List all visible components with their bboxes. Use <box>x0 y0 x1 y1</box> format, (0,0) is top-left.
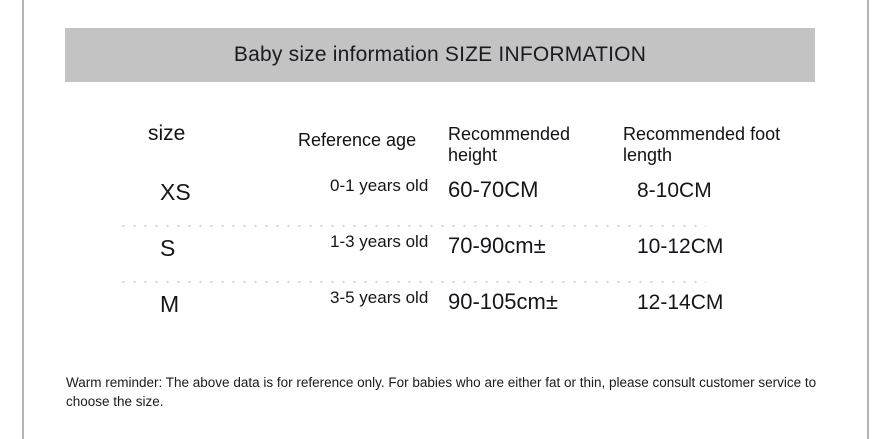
cell-age: 3-5 years old <box>298 282 448 308</box>
table-row: XS 0-1 years old 60-70CM 8-10CM <box>0 170 876 226</box>
cell-foot-length: 10-12CM <box>623 226 823 258</box>
table-row: M 3-5 years old 90-105cm± 12-14CM <box>0 282 876 338</box>
cell-age: 1-3 years old <box>298 226 448 252</box>
size-chart-table: size Reference age Recommended height Re… <box>0 110 876 338</box>
size-information-banner: Baby size information SIZE INFORMATION <box>65 28 815 82</box>
column-header-size: size <box>148 110 298 147</box>
table-header-row: size Reference age Recommended height Re… <box>0 110 876 170</box>
cell-height: 60-70CM <box>448 170 623 202</box>
column-header-recommended-height: Recommended height <box>448 110 623 166</box>
cell-size: M <box>148 282 298 317</box>
page-title: Baby size information SIZE INFORMATION <box>234 43 646 67</box>
cell-height: 70-90cm± <box>448 226 623 258</box>
column-header-recommended-foot-length: Recommended foot length <box>623 110 823 166</box>
cell-size: S <box>148 226 298 261</box>
column-header-reference-age: Reference age <box>298 110 448 151</box>
cell-size: XS <box>148 170 298 205</box>
cell-foot-length: 12-14CM <box>623 282 823 314</box>
cell-height: 90-105cm± <box>448 282 623 314</box>
table-row: S 1-3 years old 70-90cm± 10-12CM <box>0 226 876 282</box>
cell-foot-length: 8-10CM <box>623 170 823 202</box>
cell-age: 0-1 years old <box>298 170 448 196</box>
warm-reminder-note: Warm reminder: The above data is for ref… <box>66 373 818 411</box>
